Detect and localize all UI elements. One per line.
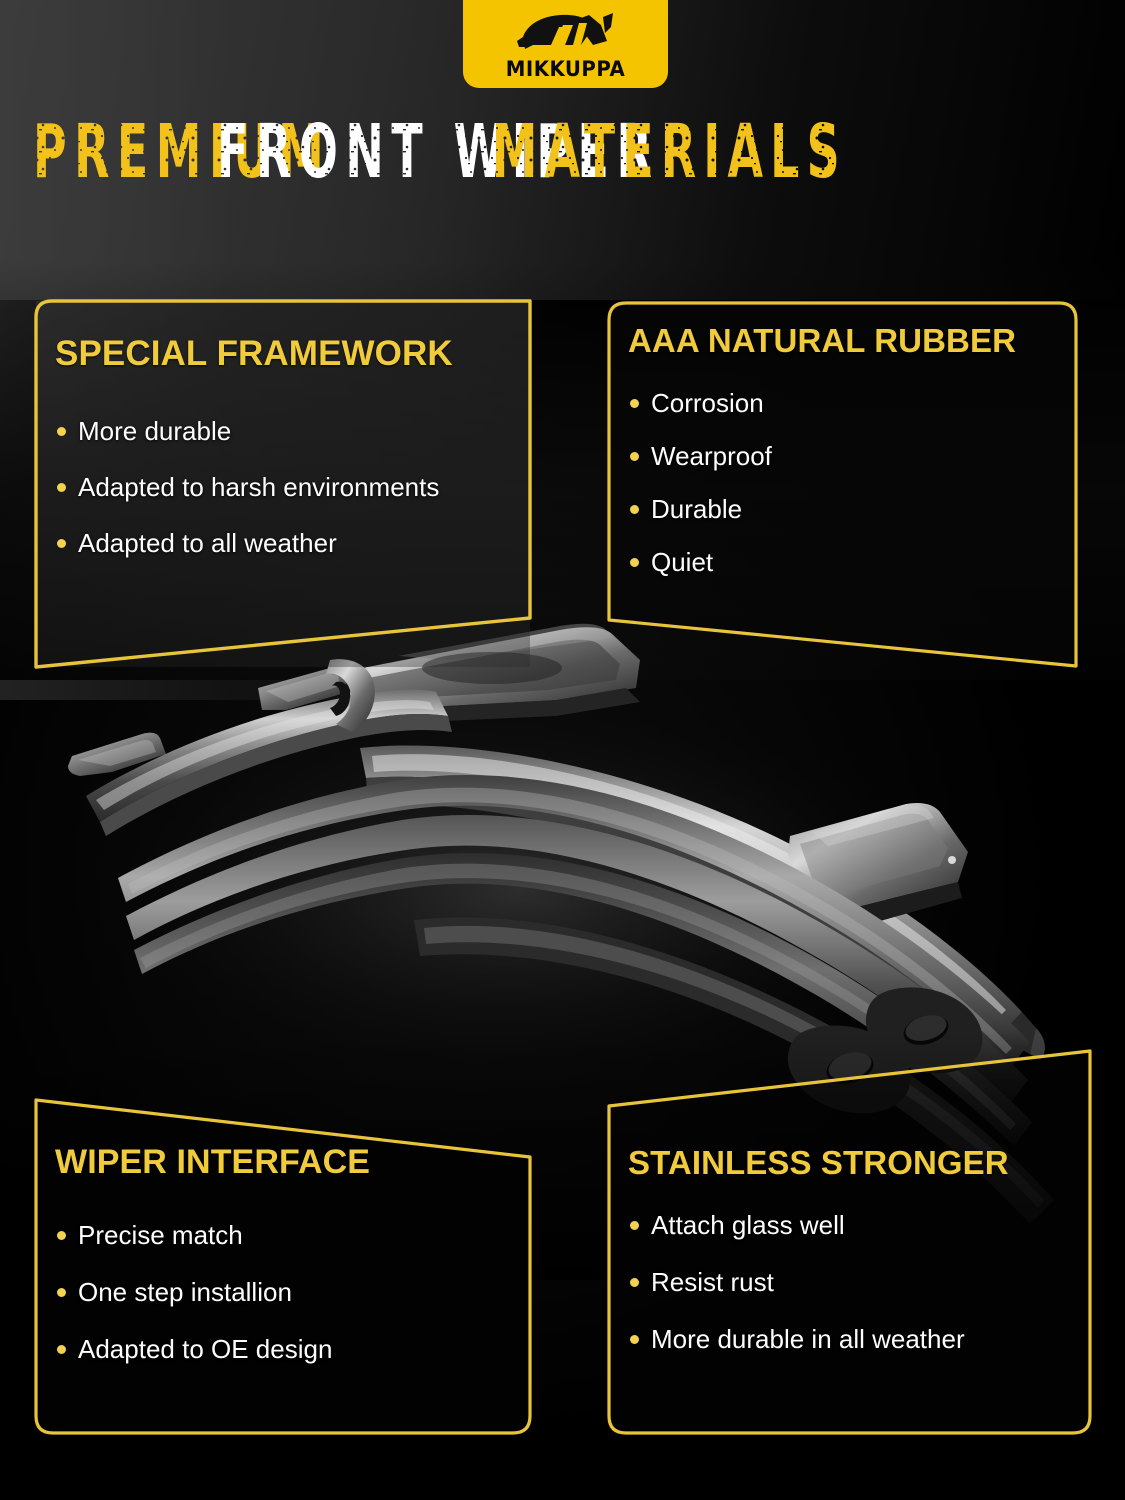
bullet-dot-icon xyxy=(57,483,66,492)
list-item: Durable xyxy=(628,495,1016,524)
list-item-label: Durable xyxy=(651,494,742,524)
list-item-label: Adapted to all weather xyxy=(78,528,337,558)
bullet-dot-icon xyxy=(57,427,66,436)
bullet-dot-icon xyxy=(630,558,639,567)
bullet-dot-icon xyxy=(630,1221,639,1230)
bullet-dot-icon xyxy=(57,539,66,548)
list-item: More durable xyxy=(55,417,453,446)
card-title: STAINLESS STRONGER xyxy=(628,1146,1009,1181)
bullet-dot-icon xyxy=(57,1288,66,1297)
list-item: Corrosion xyxy=(628,389,1016,418)
list-item: Adapted to all weather xyxy=(55,529,453,558)
bullet-dot-icon xyxy=(630,399,639,408)
list-item: One step installion xyxy=(55,1278,370,1307)
card-bullet-list: Corrosion Wearproof Durable Quiet xyxy=(628,389,1016,577)
list-item-label: Adapted to OE design xyxy=(78,1334,332,1364)
brand-logo-badge: MIKKUPPA xyxy=(463,0,668,88)
list-item-label: Corrosion xyxy=(651,388,764,418)
list-item: Attach glass well xyxy=(628,1211,1009,1240)
card-bullet-list: More durable Adapted to harsh environmen… xyxy=(55,417,453,558)
list-item-label: Resist rust xyxy=(651,1267,774,1297)
card-title: AAA NATURAL RUBBER xyxy=(628,324,1016,359)
bull-mark-icon xyxy=(507,11,625,57)
bullet-dot-icon xyxy=(57,1231,66,1240)
feature-card-stainless-stronger: STAINLESS STRONGER Attach glass well Res… xyxy=(606,1048,1093,1436)
list-item: Wearproof xyxy=(628,442,1016,471)
list-item: Quiet xyxy=(628,548,1016,577)
bullet-dot-icon xyxy=(630,1278,639,1287)
card-bullet-list: Attach glass well Resist rust More durab… xyxy=(628,1211,1009,1354)
card-content: SPECIAL FRAMEWORK More durable Adapted t… xyxy=(55,336,453,585)
list-item-label: More durable in all weather xyxy=(651,1324,965,1354)
list-item-label: One step installion xyxy=(78,1277,292,1307)
list-item: Adapted to OE design xyxy=(55,1335,370,1364)
list-item: More durable in all weather xyxy=(628,1325,1009,1354)
card-title: SPECIAL FRAMEWORK xyxy=(55,336,453,373)
list-item-label: Adapted to harsh environments xyxy=(78,472,439,502)
list-item-label: More durable xyxy=(78,416,231,446)
feature-card-wiper-interface: WIPER INTERFACE Precise match One step i… xyxy=(33,1053,533,1436)
feature-card-aaa-natural-rubber: AAA NATURAL RUBBER Corrosion Wearproof D… xyxy=(606,298,1093,666)
bullet-dot-icon xyxy=(630,452,639,461)
brand-logo-text: MIKKUPPA xyxy=(506,59,625,80)
list-item-label: Precise match xyxy=(78,1220,243,1250)
card-content: STAINLESS STRONGER Attach glass well Res… xyxy=(628,1146,1009,1382)
list-item-label: Attach glass well xyxy=(651,1210,845,1240)
bullet-dot-icon xyxy=(630,1335,639,1344)
card-bullet-list: Precise match One step installion Adapte… xyxy=(55,1221,370,1364)
list-item-label: Quiet xyxy=(651,547,713,577)
card-content: AAA NATURAL RUBBER Corrosion Wearproof D… xyxy=(628,324,1016,601)
feature-card-special-framework: SPECIAL FRAMEWORK More durable Adapted t… xyxy=(33,298,533,670)
list-item-label: Wearproof xyxy=(651,441,772,471)
bullet-dot-icon xyxy=(57,1345,66,1354)
list-item: Resist rust xyxy=(628,1268,1009,1297)
list-item: Precise match xyxy=(55,1221,370,1250)
card-title: WIPER INTERFACE xyxy=(55,1145,370,1181)
page-title: PREMIUM FRONT WIPER MATERIALS xyxy=(0,108,1125,200)
card-content: WIPER INTERFACE Precise match One step i… xyxy=(55,1145,370,1392)
list-item: Adapted to harsh environments xyxy=(55,473,453,502)
bullet-dot-icon xyxy=(630,505,639,514)
